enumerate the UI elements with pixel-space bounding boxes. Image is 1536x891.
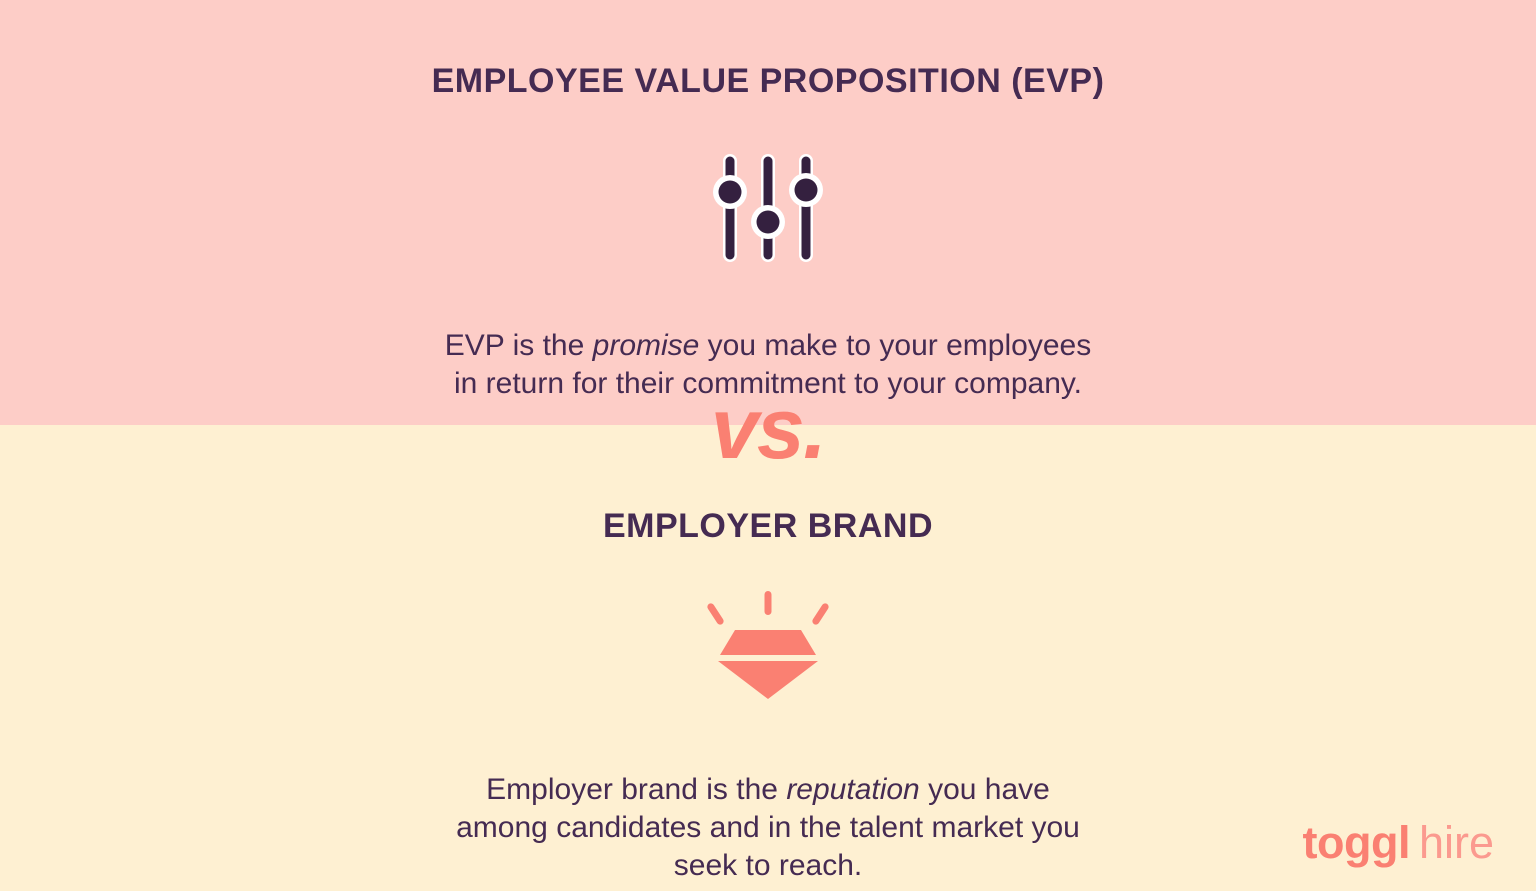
employer-brand-description-part-1: Employer brand is the bbox=[486, 773, 786, 806]
evp-heading: EMPLOYEE VALUE PROPOSITION (EVP) bbox=[0, 62, 1536, 101]
logo-hire-text: hire bbox=[1419, 820, 1494, 865]
logo-toggl-text: toggl bbox=[1303, 820, 1410, 865]
infographic-root: EMPLOYEE VALUE PROPOSITION (EVP) bbox=[0, 0, 1536, 891]
employer-brand-description-emphasis: reputation bbox=[786, 773, 919, 806]
evp-description-part-1: EVP is the bbox=[445, 329, 593, 362]
toggl-hire-logo: toggl hire bbox=[1303, 820, 1495, 865]
employer-brand-description: Employer brand is the reputation you hav… bbox=[373, 733, 1163, 885]
diamond-icon bbox=[698, 591, 838, 699]
evp-panel: EMPLOYEE VALUE PROPOSITION (EVP) bbox=[0, 0, 1536, 425]
vs-divider-label: vs. bbox=[711, 386, 825, 472]
evp-description-emphasis: promise bbox=[593, 329, 700, 362]
employer-brand-heading: EMPLOYER BRAND bbox=[0, 507, 1536, 546]
sliders-icon bbox=[713, 152, 823, 264]
